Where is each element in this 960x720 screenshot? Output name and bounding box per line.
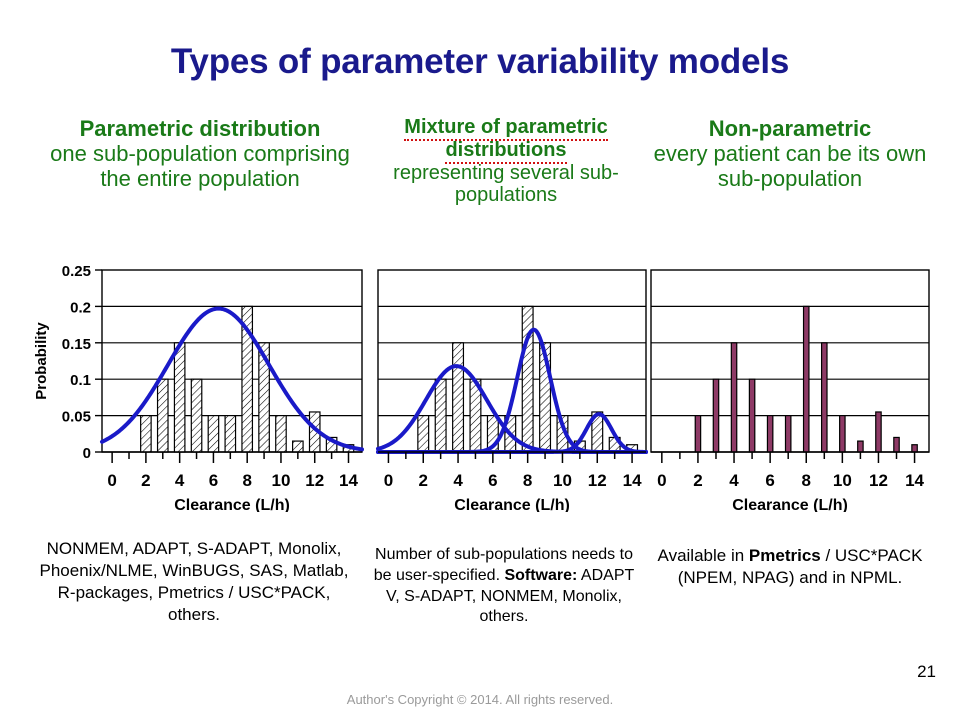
svg-text:4: 4 xyxy=(453,471,463,490)
copyright-footer: Author's Copyright © 2014. All rights re… xyxy=(0,692,960,707)
svg-text:6: 6 xyxy=(765,471,774,490)
svg-text:8: 8 xyxy=(523,471,532,490)
svg-text:0.05: 0.05 xyxy=(62,409,91,426)
svg-text:0: 0 xyxy=(83,445,91,462)
misspelled-text: Mixture of parametric distributions xyxy=(404,116,607,164)
caption-nonparametric: Available in Pmetrics / USC*PACK (NPEM, … xyxy=(645,545,935,589)
svg-text:2: 2 xyxy=(419,471,428,490)
svg-text:8: 8 xyxy=(802,471,811,490)
svg-text:0.2: 0.2 xyxy=(70,299,91,316)
svg-text:14: 14 xyxy=(623,471,642,490)
chart-parametric-distribution: 00.050.10.150.20.25Probability0246810121… xyxy=(28,262,368,512)
caption-bold: Pmetrics xyxy=(749,546,821,565)
svg-text:0.25: 0.25 xyxy=(62,263,91,280)
svg-text:4: 4 xyxy=(729,471,739,490)
caption-mixture: Number of sub-populations needs to be us… xyxy=(368,545,640,628)
svg-text:10: 10 xyxy=(272,471,291,490)
column-heading-plain: every patient can be its own sub-populat… xyxy=(645,141,935,191)
svg-text:12: 12 xyxy=(588,471,607,490)
svg-text:10: 10 xyxy=(833,471,852,490)
svg-text:4: 4 xyxy=(175,471,185,490)
svg-text:0: 0 xyxy=(107,471,116,490)
svg-text:0.15: 0.15 xyxy=(62,336,91,353)
caption-text: Available in xyxy=(658,546,749,565)
svg-text:2: 2 xyxy=(693,471,702,490)
column-heading-bold: Non-parametric xyxy=(645,116,935,141)
caption-text: NONMEM, ADAPT, S-ADAPT, Monolix, Phoenix… xyxy=(40,539,349,624)
svg-text:12: 12 xyxy=(305,471,324,490)
svg-text:Clearance (L/h): Clearance (L/h) xyxy=(732,497,848,512)
svg-text:10: 10 xyxy=(553,471,572,490)
column-heading-plain: one sub-population comprising the entire… xyxy=(40,141,360,191)
column-heading-mixture: Mixture of parametric distributions repr… xyxy=(372,116,640,207)
chart-mixture-distributions: 02468101214Clearance (L/h) xyxy=(372,262,652,512)
svg-text:Probability: Probability xyxy=(33,322,50,400)
svg-text:Clearance (L/h): Clearance (L/h) xyxy=(454,497,570,512)
svg-text:8: 8 xyxy=(242,471,251,490)
page-title: Types of parameter variability models xyxy=(0,42,960,82)
column-heading-plain: representing several sub-populations xyxy=(372,162,640,208)
svg-text:0: 0 xyxy=(384,471,393,490)
svg-text:2: 2 xyxy=(141,471,150,490)
page-number: 21 xyxy=(917,662,936,682)
chart-non-parametric: 02468101214Clearance (L/h) xyxy=(645,262,935,512)
svg-text:6: 6 xyxy=(488,471,497,490)
column-heading-nonparametric: Non-parametric every patient can be its … xyxy=(645,116,935,191)
svg-text:0.1: 0.1 xyxy=(70,372,91,389)
column-heading-parametric: Parametric distribution one sub-populati… xyxy=(40,116,360,191)
svg-text:0: 0 xyxy=(657,471,666,490)
svg-text:14: 14 xyxy=(905,471,924,490)
svg-text:Clearance (L/h): Clearance (L/h) xyxy=(174,497,290,512)
svg-text:12: 12 xyxy=(869,471,888,490)
slide-canvas: Types of parameter variability models Pa… xyxy=(0,0,960,720)
svg-text:6: 6 xyxy=(209,471,218,490)
column-heading-bold: Mixture of parametric distributions xyxy=(372,116,640,162)
column-heading-bold: Parametric distribution xyxy=(40,116,360,141)
svg-text:14: 14 xyxy=(339,471,358,490)
caption-bold: Software: xyxy=(504,567,577,584)
caption-parametric: NONMEM, ADAPT, S-ADAPT, Monolix, Phoenix… xyxy=(34,538,354,626)
